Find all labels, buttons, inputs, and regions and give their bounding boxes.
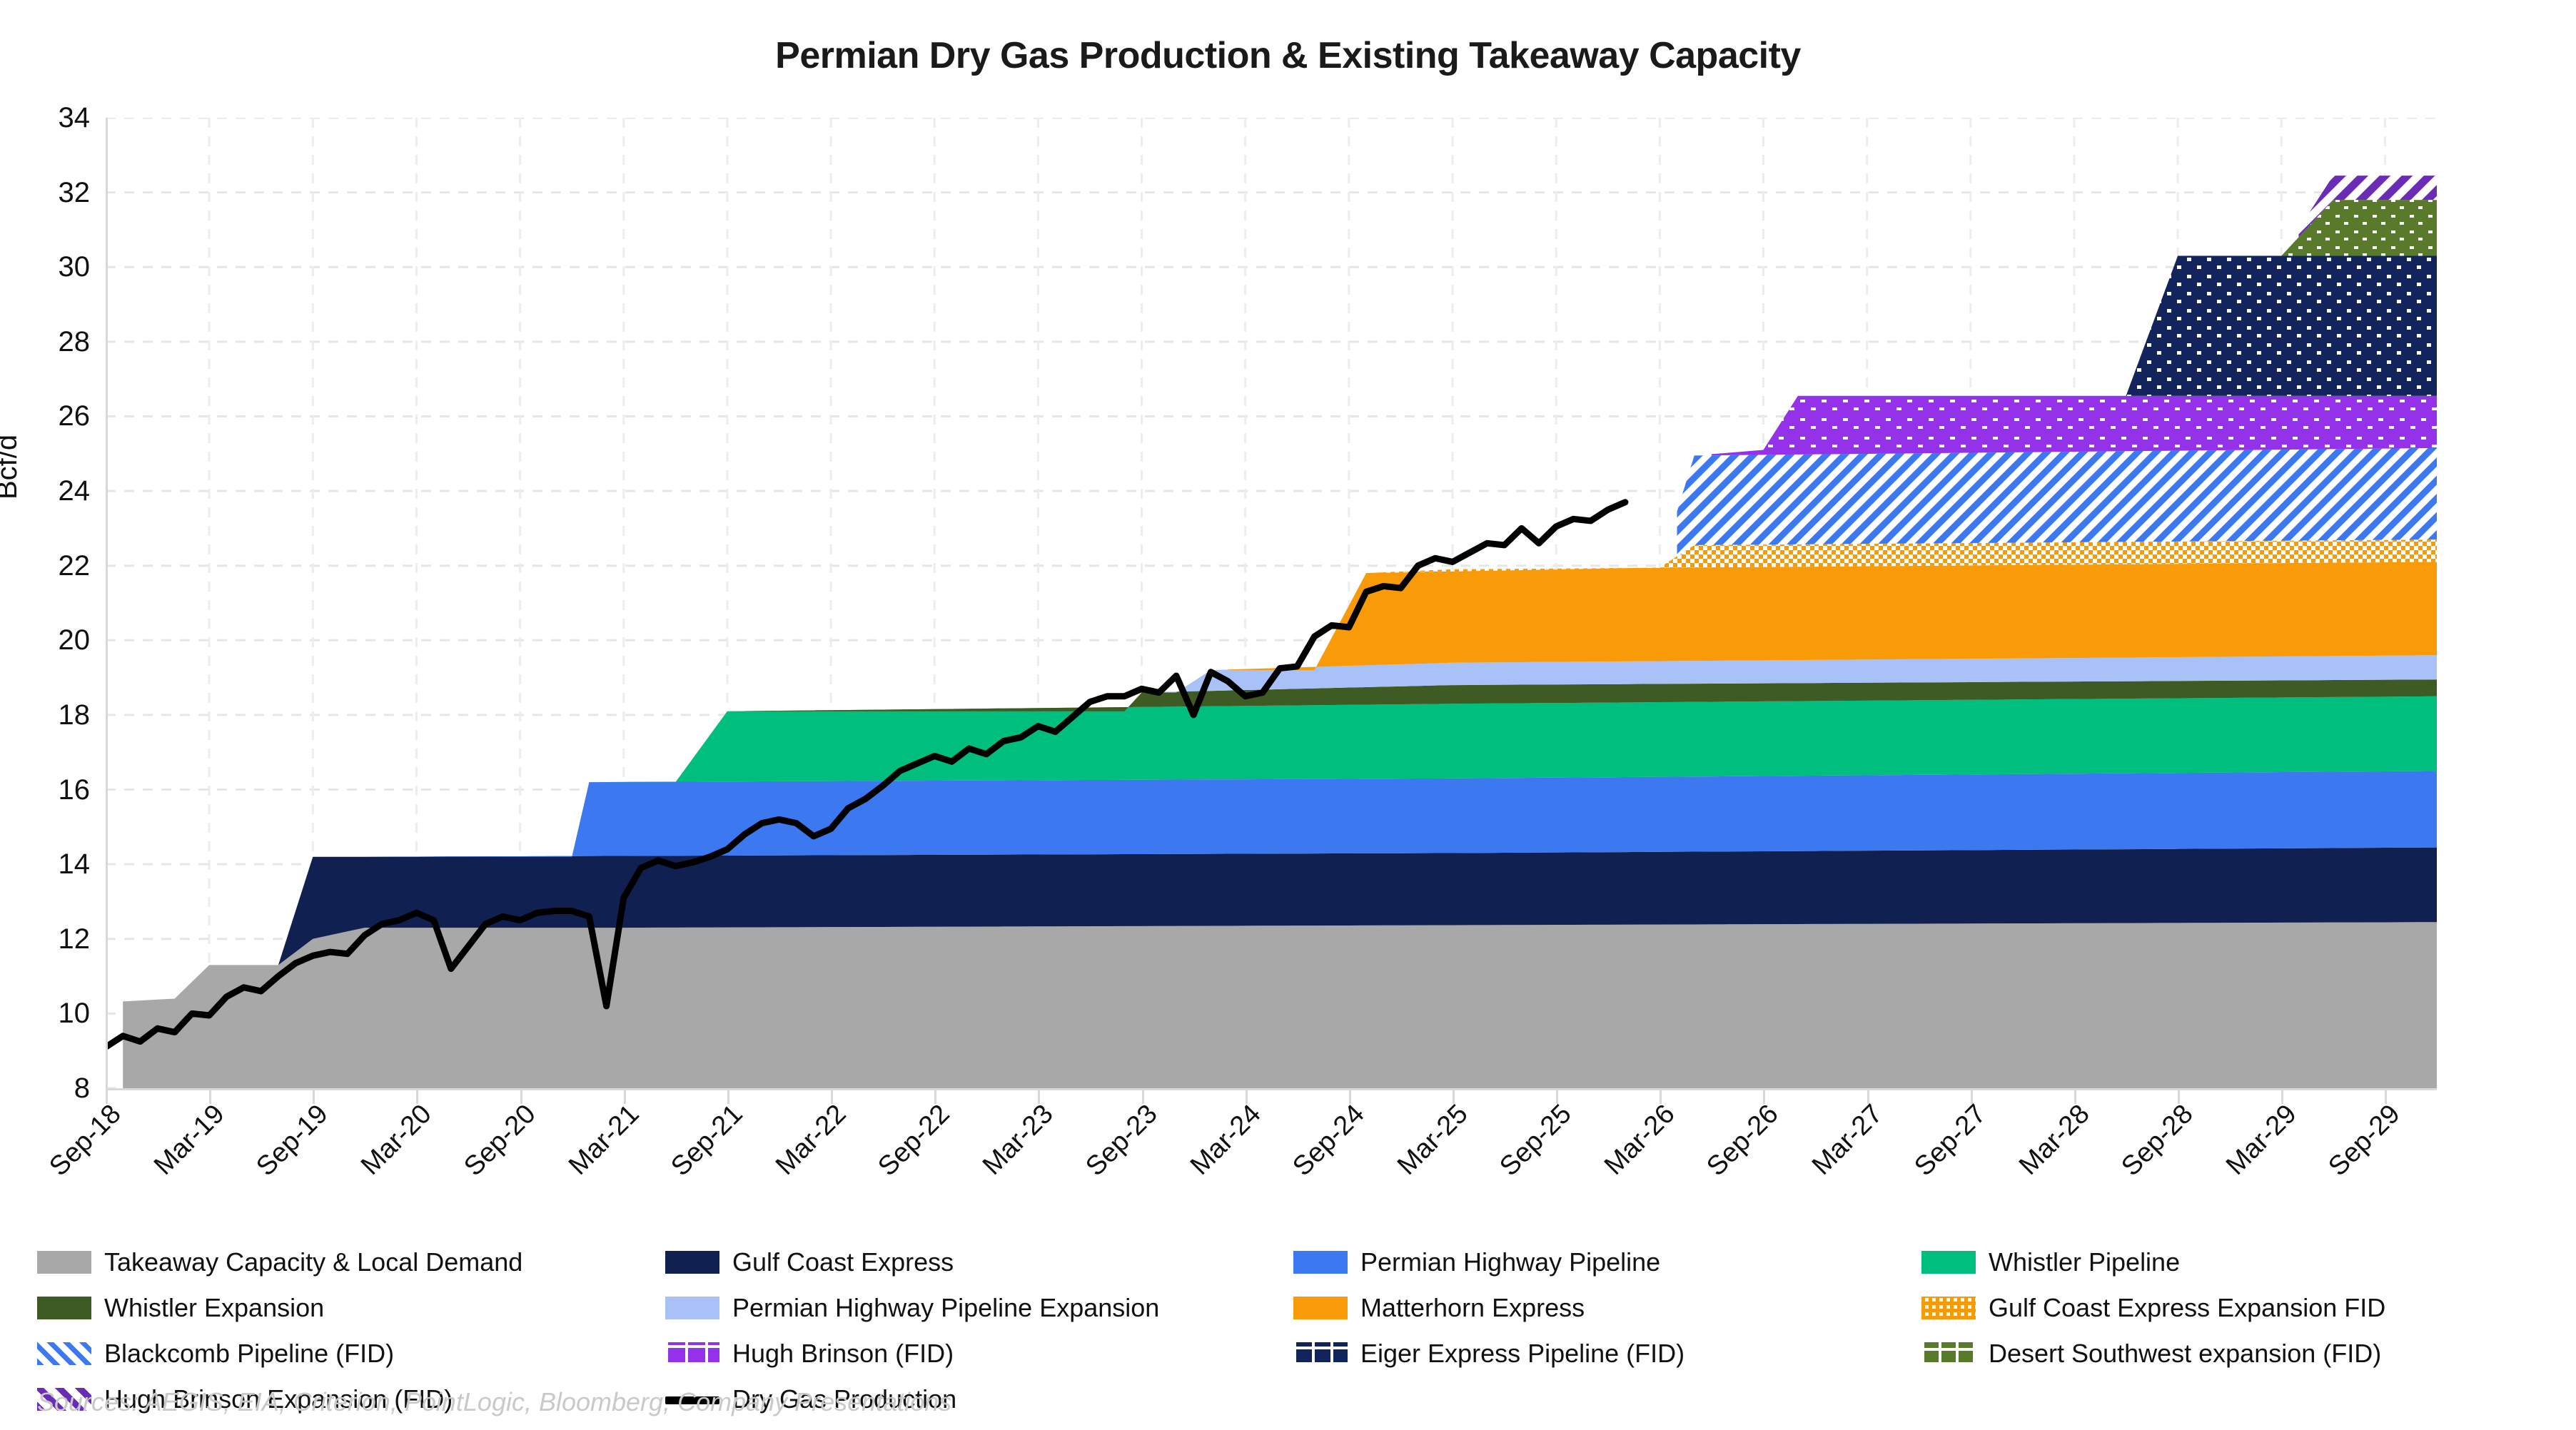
legend-item-gcx_exp[interactable]: Gulf Coast Express Expansion FID <box>1921 1293 2550 1323</box>
x-axis-tick-label: Sep-21 <box>627 1099 749 1222</box>
x-axis-tick-label: Mar-24 <box>1144 1099 1267 1222</box>
legend-swatch-phx_exp <box>665 1297 719 1319</box>
legend-label: Desert Southwest expansion (FID) <box>1989 1339 2381 1369</box>
y-axis-tick-label: 8 <box>0 1072 90 1105</box>
plot-area <box>106 118 2437 1088</box>
y-axis-tick-label: 28 <box>0 326 90 358</box>
x-axis-tick-label: Sep-27 <box>1869 1099 1992 1222</box>
legend-item-takeaway[interactable]: Takeaway Capacity & Local Demand <box>37 1247 665 1277</box>
legend-item-matterhorn[interactable]: Matterhorn Express <box>1293 1293 1921 1323</box>
legend-swatch-whistler_exp <box>37 1297 91 1319</box>
x-axis-tick-label: Mar-28 <box>1974 1099 2096 1222</box>
legend-row: Blackcomb Pipeline (FID)Hugh Brinson (FI… <box>37 1339 2550 1369</box>
x-axis-tick-label: Sep-24 <box>1248 1099 1370 1222</box>
y-axis-tick-label: 34 <box>0 102 90 134</box>
page-title: Permian Dry Gas Production & Existing Ta… <box>0 34 2576 77</box>
x-axis-line <box>106 1088 2437 1090</box>
x-axis-tick-label: Mar-25 <box>1352 1099 1475 1222</box>
legend-label: Eiger Express Pipeline (FID) <box>1360 1339 1684 1369</box>
sources-note: Sources: AEGIS, EIA, Criterion, PointLog… <box>37 1387 951 1417</box>
x-axis-tick-label: Mar-26 <box>1559 1099 1682 1222</box>
legend-item-phx_exp[interactable]: Permian Highway Pipeline Expansion <box>665 1293 1293 1323</box>
legend-item-hugh_brinson[interactable]: Hugh Brinson (FID) <box>665 1339 1293 1369</box>
x-axis-tick-label: Mar-19 <box>108 1099 231 1222</box>
legend-swatch-phx <box>1293 1251 1348 1274</box>
legend-label: Blackcomb Pipeline (FID) <box>104 1339 394 1369</box>
x-axis-tick-label: Sep-22 <box>834 1099 956 1222</box>
legend-label: Hugh Brinson (FID) <box>732 1339 954 1369</box>
area-band-eiger <box>1815 256 2437 396</box>
legend-label: Gulf Coast Express Expansion FID <box>1989 1293 2385 1323</box>
chart-svg <box>106 118 2437 1088</box>
legend-item-desert_sw[interactable]: Desert Southwest expansion (FID) <box>1921 1339 2550 1369</box>
legend-item-phx[interactable]: Permian Highway Pipeline <box>1293 1247 1921 1277</box>
x-axis-tick-label: Sep-28 <box>2077 1099 2200 1222</box>
legend-row: Whistler ExpansionPermian Highway Pipeli… <box>37 1293 2550 1323</box>
x-axis-tick-label: Mar-27 <box>1766 1099 1889 1222</box>
legend-item-blackcomb[interactable]: Blackcomb Pipeline (FID) <box>37 1339 665 1369</box>
x-axis-tick-label: Sep-25 <box>1455 1099 1578 1222</box>
y-axis-tick-label: 18 <box>0 699 90 731</box>
x-axis-tick-label: Sep-29 <box>2284 1099 2407 1222</box>
stacked-area-bands <box>123 176 2437 1088</box>
legend-swatch-desert_sw <box>1921 1342 1976 1365</box>
legend-swatch-gcx_exp <box>1921 1297 1976 1319</box>
legend-label: Whistler Expansion <box>104 1293 324 1323</box>
x-axis-tick-label: Sep-18 <box>5 1099 128 1222</box>
legend-swatch-gcx <box>665 1251 719 1274</box>
legend-item-whistler_exp[interactable]: Whistler Expansion <box>37 1293 665 1323</box>
y-axis-tick-label: 10 <box>0 998 90 1030</box>
area-band-hugh_brinson <box>1712 396 2437 455</box>
legend-item-whistler[interactable]: Whistler Pipeline <box>1921 1247 2550 1277</box>
y-axis-tick-label: 20 <box>0 624 90 656</box>
x-axis-tick-label: Sep-23 <box>1041 1099 1163 1222</box>
area-band-phx <box>330 771 2438 856</box>
y-axis-tick-label: 32 <box>0 177 90 209</box>
legend-swatch-hugh_brinson <box>665 1342 719 1365</box>
legend-item-gcx[interactable]: Gulf Coast Express <box>665 1247 1293 1277</box>
x-axis-tick-label: Mar-22 <box>730 1099 853 1222</box>
area-band-blackcomb <box>1677 448 2437 557</box>
chart-page: Permian Dry Gas Production & Existing Ta… <box>0 0 2576 1425</box>
legend-row: Takeaway Capacity & Local DemandGulf Coa… <box>37 1247 2550 1277</box>
y-axis-tick-label: 22 <box>0 550 90 582</box>
legend-label: Whistler Pipeline <box>1989 1247 2180 1277</box>
x-axis-tick-label: Mar-20 <box>315 1099 438 1222</box>
legend-swatch-takeaway <box>37 1251 91 1274</box>
y-axis-tick-label: 14 <box>0 848 90 881</box>
x-axis-tick-label: Mar-21 <box>522 1099 645 1222</box>
legend-swatch-eiger <box>1293 1342 1348 1365</box>
x-axis-tick-label: Sep-26 <box>1662 1099 1785 1222</box>
x-axis-tick-label: Sep-19 <box>212 1099 335 1222</box>
y-axis-tick-label: 12 <box>0 923 90 955</box>
legend-label: Permian Highway Pipeline <box>1360 1247 1660 1277</box>
y-axis-tick-label: 30 <box>0 251 90 283</box>
x-axis-tick-label: Sep-20 <box>419 1099 542 1222</box>
legend-swatch-matterhorn <box>1293 1297 1348 1319</box>
legend-label: Gulf Coast Express <box>732 1247 954 1277</box>
x-axis-tick-label: Mar-23 <box>937 1099 1060 1222</box>
y-axis-tick-label: 26 <box>0 400 90 432</box>
legend-swatch-whistler <box>1921 1251 1976 1274</box>
plot-clip <box>106 118 2437 1088</box>
y-axis-tick-label: 16 <box>0 774 90 806</box>
y-axis-tick-label: 24 <box>0 475 90 507</box>
legend-item-eiger[interactable]: Eiger Express Pipeline (FID) <box>1293 1339 1921 1369</box>
area-band-whistler <box>607 696 2437 782</box>
legend-label: Takeaway Capacity & Local Demand <box>104 1247 522 1277</box>
legend-label: Permian Highway Pipeline Expansion <box>732 1293 1159 1323</box>
y-axis-line <box>106 118 108 1088</box>
legend-label: Matterhorn Express <box>1360 1293 1585 1323</box>
legend-swatch-blackcomb <box>37 1342 91 1365</box>
x-axis-tick-label: Mar-29 <box>2181 1099 2303 1222</box>
